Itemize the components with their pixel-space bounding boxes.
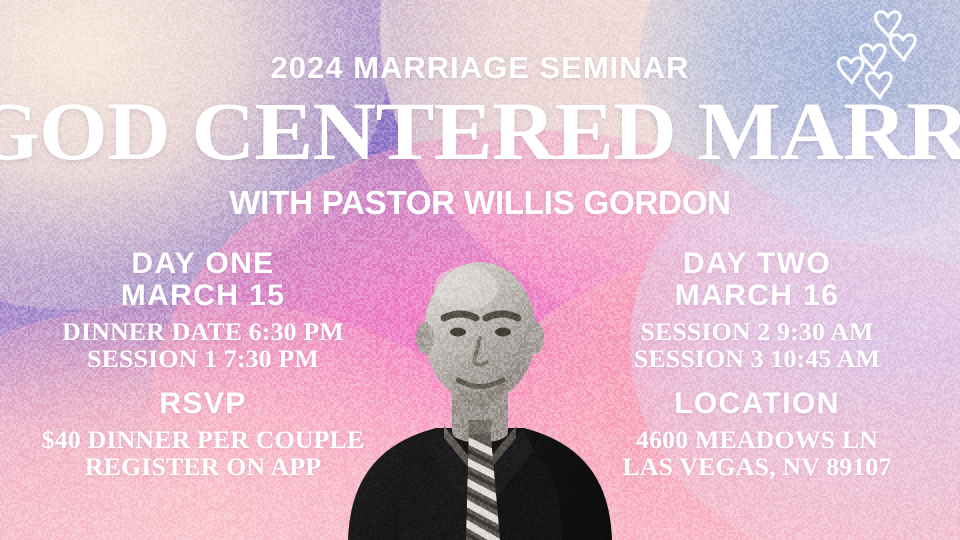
day-one-details: DINNER DATE 6:30 PM SESSION 1 7:30 PM bbox=[33, 319, 373, 374]
day-one-heading: DAY ONE MARCH 15 bbox=[38, 248, 368, 312]
page-title: GOD CENTERED MARRIAGE bbox=[0, 90, 960, 173]
rsvp-heading: RSVP bbox=[38, 388, 368, 420]
marriage-seminar-flyer: 2024 MARRIAGE SEMINAR GOD CENTERED MARRI… bbox=[0, 0, 960, 540]
location-heading: LOCATION bbox=[592, 388, 922, 420]
location-details: 4600 MEADOWS LN LAS VEGAS, NV 89107 bbox=[587, 427, 927, 482]
subtitle-text: WITH PASTOR WILLIS GORDON bbox=[0, 186, 960, 219]
day-two-heading: DAY TWO MARCH 16 bbox=[592, 248, 922, 312]
eyebrow-text: 2024 MARRIAGE SEMINAR bbox=[0, 52, 960, 83]
info-block-day-two: DAY TWO MARCH 16 SESSION 2 9:30 AM SESSI… bbox=[592, 248, 922, 374]
day-two-details: SESSION 2 9:30 AM SESSION 3 10:45 AM bbox=[587, 319, 927, 374]
poster-content: 2024 MARRIAGE SEMINAR GOD CENTERED MARRI… bbox=[0, 0, 960, 540]
info-block-rsvp: RSVP $40 DINNER PER COUPLE REGISTER ON A… bbox=[38, 388, 368, 482]
info-block-location: LOCATION 4600 MEADOWS LN LAS VEGAS, NV 8… bbox=[592, 388, 922, 482]
rsvp-details: $40 DINNER PER COUPLE REGISTER ON APP bbox=[33, 427, 373, 482]
info-block-day-one: DAY ONE MARCH 15 DINNER DATE 6:30 PM SES… bbox=[38, 248, 368, 374]
